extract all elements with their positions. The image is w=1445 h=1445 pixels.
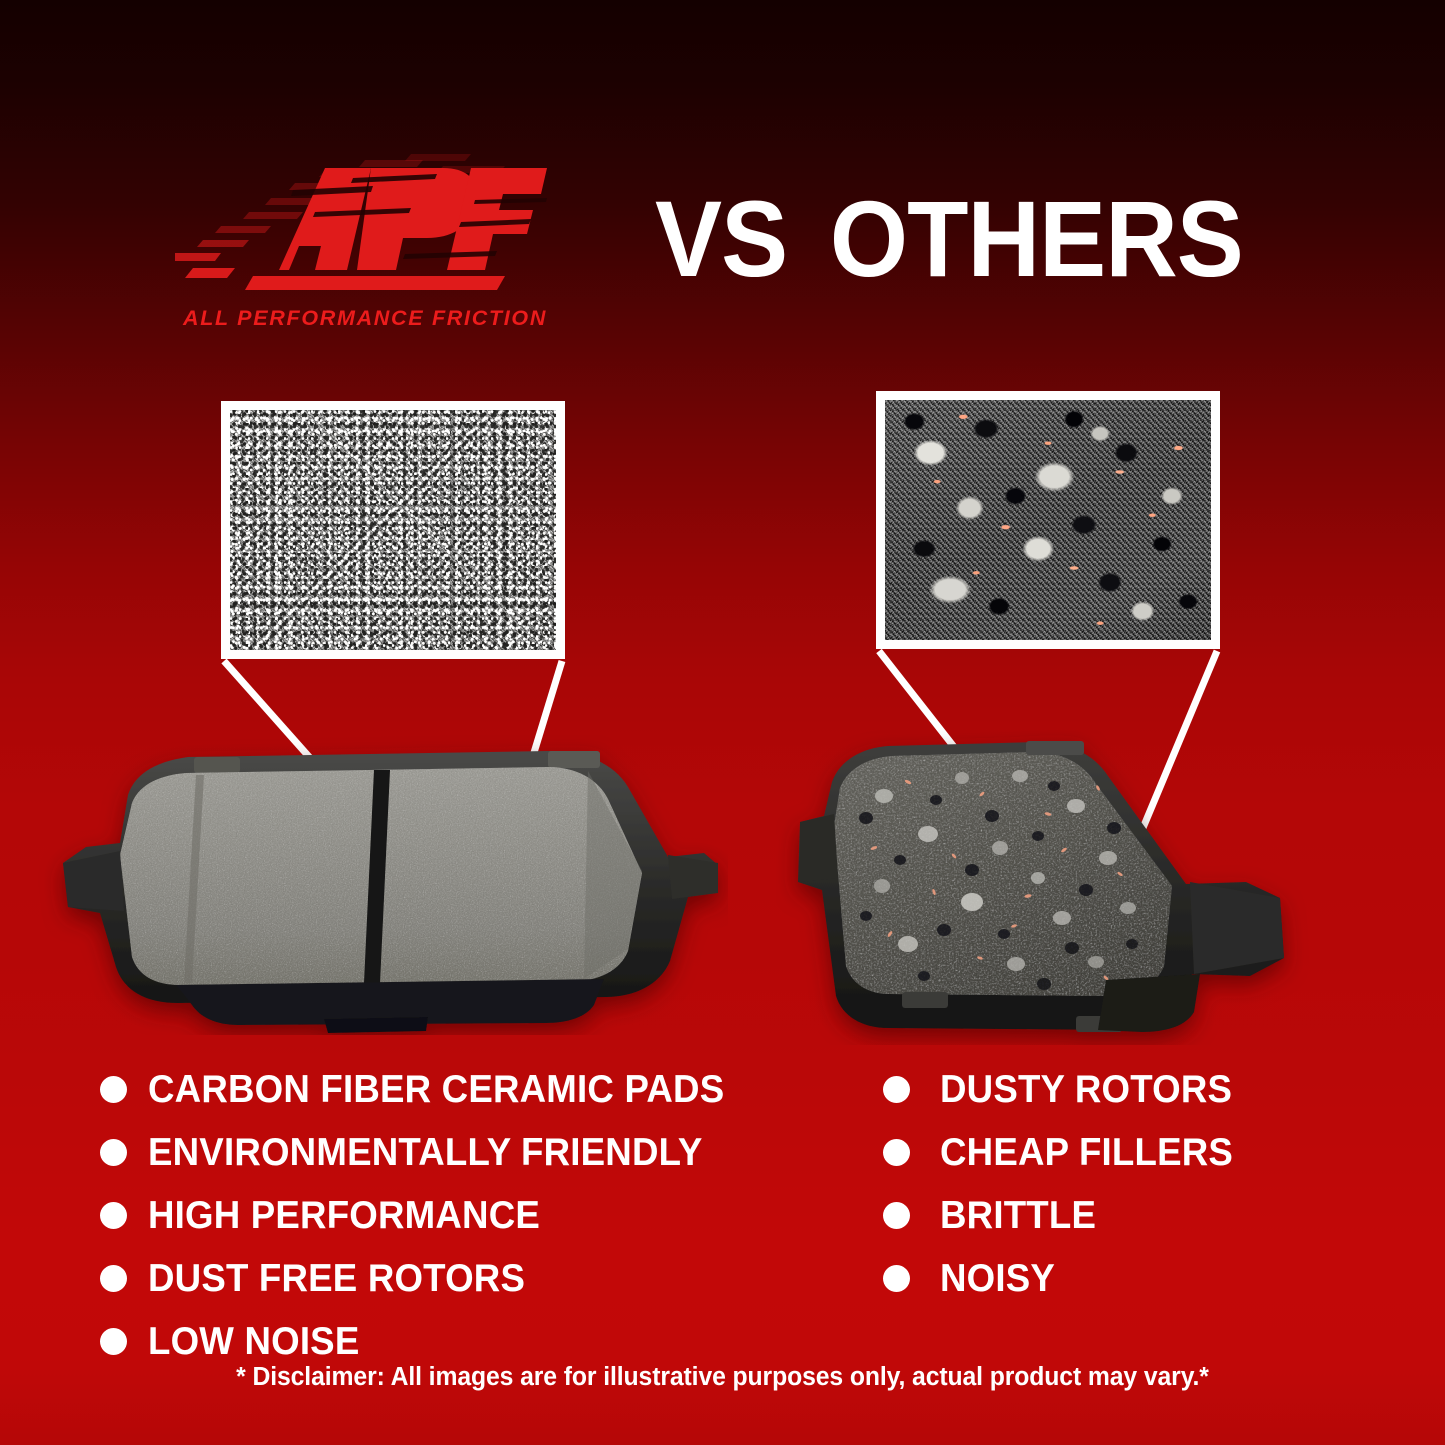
feature-label: DUSTY ROTORS <box>940 1068 1232 1112</box>
feature-label: CHEAP FILLERS <box>940 1131 1233 1175</box>
apf-brake-pad-image <box>28 735 728 1035</box>
list-item: CARBON FIBER CERAMIC PADS <box>100 1058 800 1121</box>
competitor-brake-pad-image <box>776 730 1346 1045</box>
brand-tagline: ALL PERFORMANCE FRICTION <box>183 306 528 331</box>
coarse-filler-texture <box>885 400 1211 640</box>
list-item: DUSTY ROTORS <box>883 1058 1353 1121</box>
list-item: HIGH PERFORMANCE <box>100 1184 800 1247</box>
apf-material-swatch <box>221 401 565 659</box>
bullet-icon <box>883 1265 910 1292</box>
header: ALL PERFORMANCE FRICTION VSOTHERS <box>0 0 1445 360</box>
comparison-infographic: ALL PERFORMANCE FRICTION VSOTHERS <box>0 0 1445 1445</box>
competitor-material-swatch-image <box>885 400 1211 640</box>
feature-label: DUST FREE ROTORS <box>148 1257 525 1301</box>
others-word: OTHERS <box>830 178 1243 299</box>
feature-label: HIGH PERFORMANCE <box>148 1194 540 1238</box>
apf-feature-list: CARBON FIBER CERAMIC PADS ENVIRONMENTALL… <box>100 1058 800 1373</box>
list-item: CHEAP FILLERS <box>883 1121 1353 1184</box>
competitor-feature-list: DUSTY ROTORS CHEAP FILLERS BRITTLE NOISY <box>883 1058 1353 1310</box>
bullet-icon <box>100 1076 127 1103</box>
feature-label: LOW NOISE <box>148 1320 359 1364</box>
list-item: ENVIRONMENTALLY FRIENDLY <box>100 1121 800 1184</box>
bullet-icon <box>100 1265 127 1292</box>
feature-label: NOISY <box>940 1257 1055 1301</box>
bullet-icon <box>100 1328 127 1355</box>
page-title: VSOTHERS <box>655 185 1243 293</box>
feature-label: CARBON FIBER CERAMIC PADS <box>148 1068 724 1112</box>
list-item: BRITTLE <box>883 1184 1353 1247</box>
competitor-material-swatch <box>876 391 1220 649</box>
bullet-icon <box>883 1139 910 1166</box>
fine-ceramic-texture <box>230 410 556 650</box>
feature-label: ENVIRONMENTALLY FRIENDLY <box>148 1131 702 1175</box>
apf-speed-logo-icon <box>175 150 555 300</box>
bullet-icon <box>100 1202 127 1229</box>
vs-word: VS <box>655 178 787 299</box>
brand-logo: ALL PERFORMANCE FRICTION <box>175 150 555 335</box>
bullet-icon <box>883 1076 910 1103</box>
bullet-icon <box>883 1202 910 1229</box>
bullet-icon <box>100 1139 127 1166</box>
disclaimer-text: * Disclaimer: All images are for illustr… <box>22 1363 1424 1392</box>
list-item: NOISY <box>883 1247 1353 1310</box>
feature-label: BRITTLE <box>940 1194 1096 1238</box>
list-item: DUST FREE ROTORS <box>100 1247 800 1310</box>
apf-material-swatch-image <box>230 410 556 650</box>
